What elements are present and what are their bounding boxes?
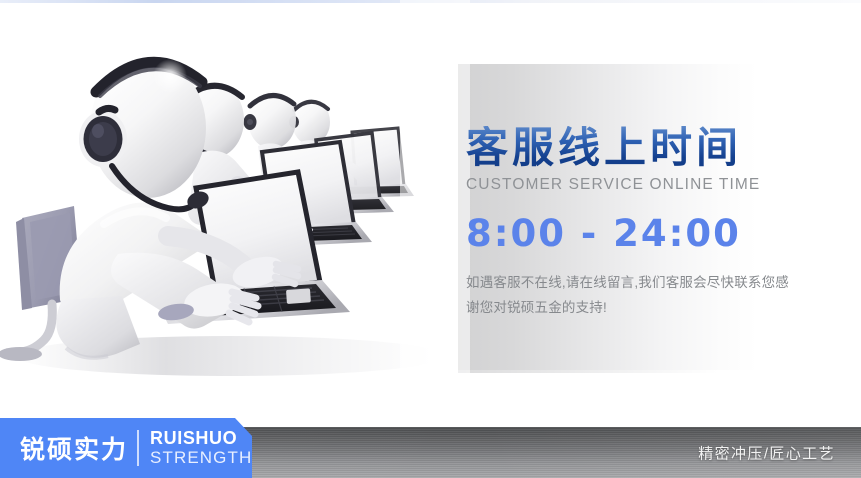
call-center-agents-illustration [0,0,470,400]
banner-text-block: 客服线上时间 CUSTOMER SERVICE ONLINE TIME 8:00… [466,126,826,321]
brand-english-line-1: RUISHUO [150,429,252,448]
headline-chinese: 客服线上时间 [466,126,826,170]
brand-english-line-2: STRENGTH [150,449,252,467]
banner-stage: 客服线上时间 CUSTOMER SERVICE ONLINE TIME 8:00… [0,0,861,478]
footer-brand-tab: 锐硕实力 RUISHUO STRENGTH [0,418,252,478]
brand-divider [137,430,139,466]
service-hours: 8:00 - 24:00 [466,212,826,255]
brand-name-chinese: 锐硕实力 [20,430,128,466]
service-description-line-1: 如遇客服不在线,请在线留言,我们客服会尽快联系 [466,275,762,290]
service-description: 如遇客服不在线,请在线留言,我们客服会尽快联系您感谢您对锐硕五金的支持! [466,271,802,321]
footer-brand-inner: 锐硕实力 RUISHUO STRENGTH [20,418,252,478]
headline-english: CUSTOMER SERVICE ONLINE TIME [466,176,826,194]
footer-slogan: 精密冲压/匠心工艺 [698,442,835,463]
brand-name-english: RUISHUO STRENGTH [150,429,252,467]
